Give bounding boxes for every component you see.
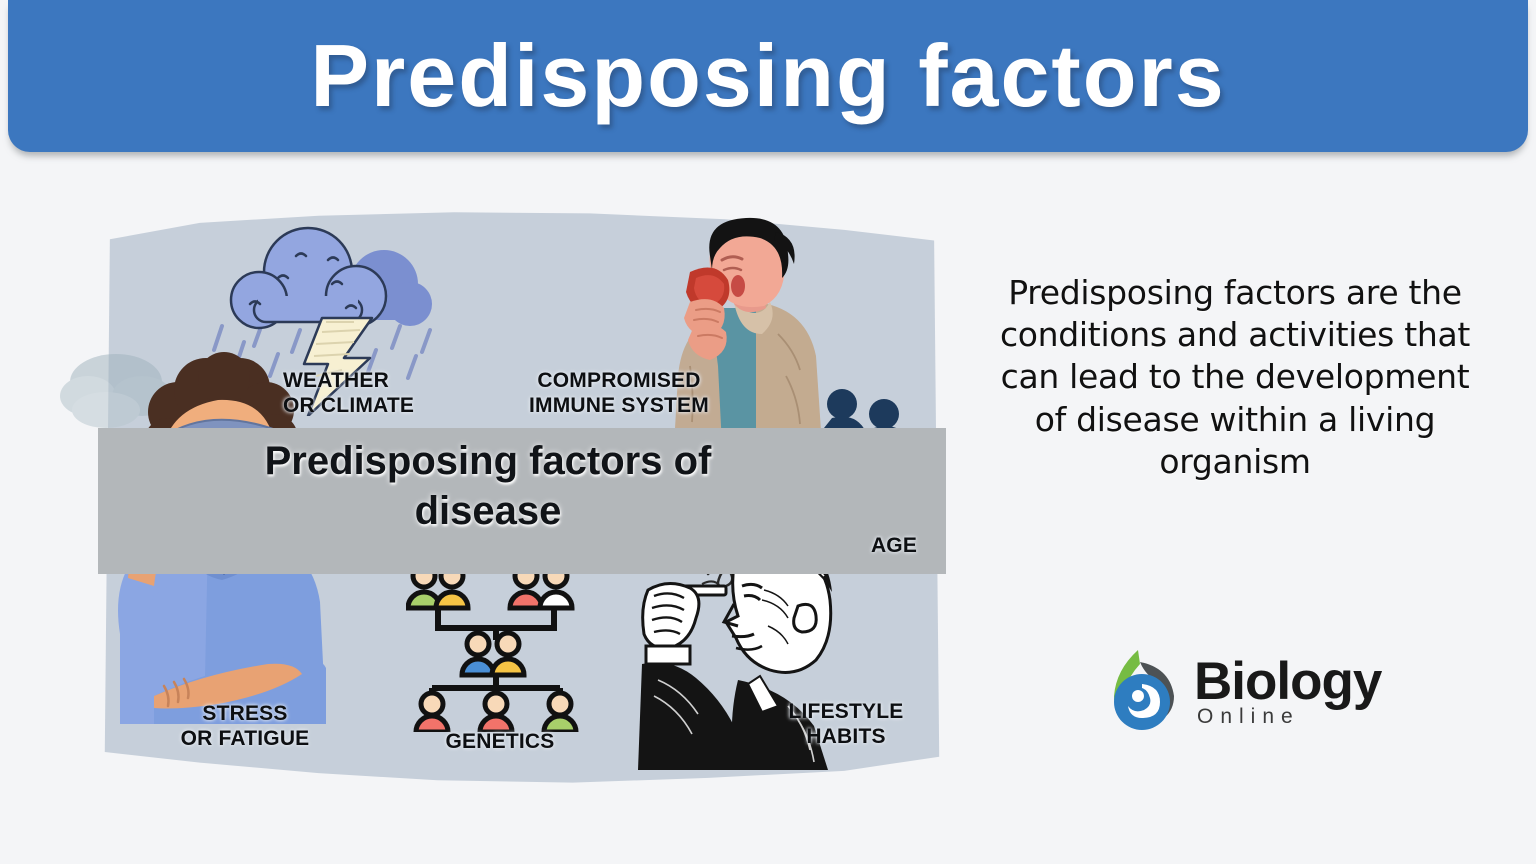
label-genetics: GENETICS xyxy=(410,730,590,755)
biology-logo-mark-icon xyxy=(1108,648,1182,734)
header-banner: Predisposing factors xyxy=(8,0,1528,152)
page-title: Predisposing factors xyxy=(310,32,1225,120)
label-immune-line1: COMPROMISED xyxy=(504,369,734,394)
label-compromised-immune-system: COMPROMISED IMMUNE SYSTEM xyxy=(504,369,734,419)
label-lifestyle-line2: HABITS xyxy=(766,725,926,750)
illustration-panel: Predisposing factors of disease WEATHER … xyxy=(98,204,946,792)
label-lifestyle-habits: LIFESTYLE HABITS xyxy=(766,700,926,750)
label-stress-line2: OR FATIGUE xyxy=(140,727,350,752)
label-age-line1: AGE xyxy=(846,534,942,559)
diagram-center-title: Predisposing factors of disease xyxy=(228,436,748,536)
biology-online-logo: Biology Online xyxy=(1108,636,1408,746)
label-weather-line1: WEATHER xyxy=(283,369,483,394)
label-stress-or-fatigue: STRESS OR FATIGUE xyxy=(140,702,350,752)
label-stress-line1: STRESS xyxy=(140,702,350,727)
label-weather-line2: OR CLIMATE xyxy=(283,394,483,419)
family-tree-icon xyxy=(406,562,586,732)
logo-name-main: Biology xyxy=(1194,655,1381,708)
label-genetics-line1: GENETICS xyxy=(410,730,590,755)
label-age: AGE xyxy=(846,534,942,559)
logo-text: Biology Online xyxy=(1194,655,1381,727)
label-lifestyle-line1: LIFESTYLE xyxy=(766,700,926,725)
label-immune-line2: IMMUNE SYSTEM xyxy=(504,394,734,419)
description-text: Predisposing factors are the conditions … xyxy=(985,272,1485,483)
label-weather-or-climate: WEATHER OR CLIMATE xyxy=(283,369,483,419)
